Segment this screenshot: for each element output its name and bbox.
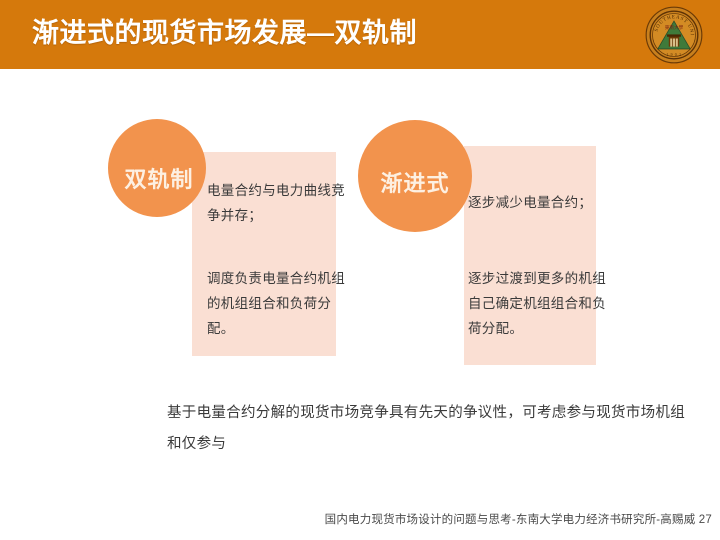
badge-label-left: 双轨制	[124, 169, 193, 191]
page-title: 渐进式的现货市场发展—双轨制	[32, 13, 417, 53]
southeast-university-seal-icon: SOUTHEAST UNIVERSITY 東南大學 1 9 0 2	[645, 6, 703, 64]
panel-left-line-2: 调度负责电量合约机组的机组组合和负荷分配。	[207, 266, 357, 341]
badge-label-right: 渐进式	[380, 173, 449, 195]
panel-left-line-1: 电量合约与电力曲线竞争并存；	[207, 178, 357, 228]
slide-canvas: 渐进式的现货市场发展—双轨制 SOUTHEAST UNIVERSITY 東南大學…	[0, 0, 720, 540]
bottom-note: 基于电量合约分解的现货市场竞争具有先天的争议性，可考虑参与现货市场机组和仅参与	[167, 398, 687, 460]
badge-circle-left: 双轨制	[108, 119, 206, 217]
panel-right-line-2: 逐步过渡到更多的机组自己确定机组组合和负荷分配。	[468, 266, 618, 341]
badge-circle-right: 渐进式	[358, 120, 472, 232]
svg-text:1 9 0 2: 1 9 0 2	[666, 53, 681, 57]
footer-caption: 国内电力现货市场设计的问题与思考-东南大学电力经济书研究所-高赐威 27	[0, 511, 712, 527]
panel-right-line-1: 逐步减少电量合约；	[468, 190, 638, 215]
